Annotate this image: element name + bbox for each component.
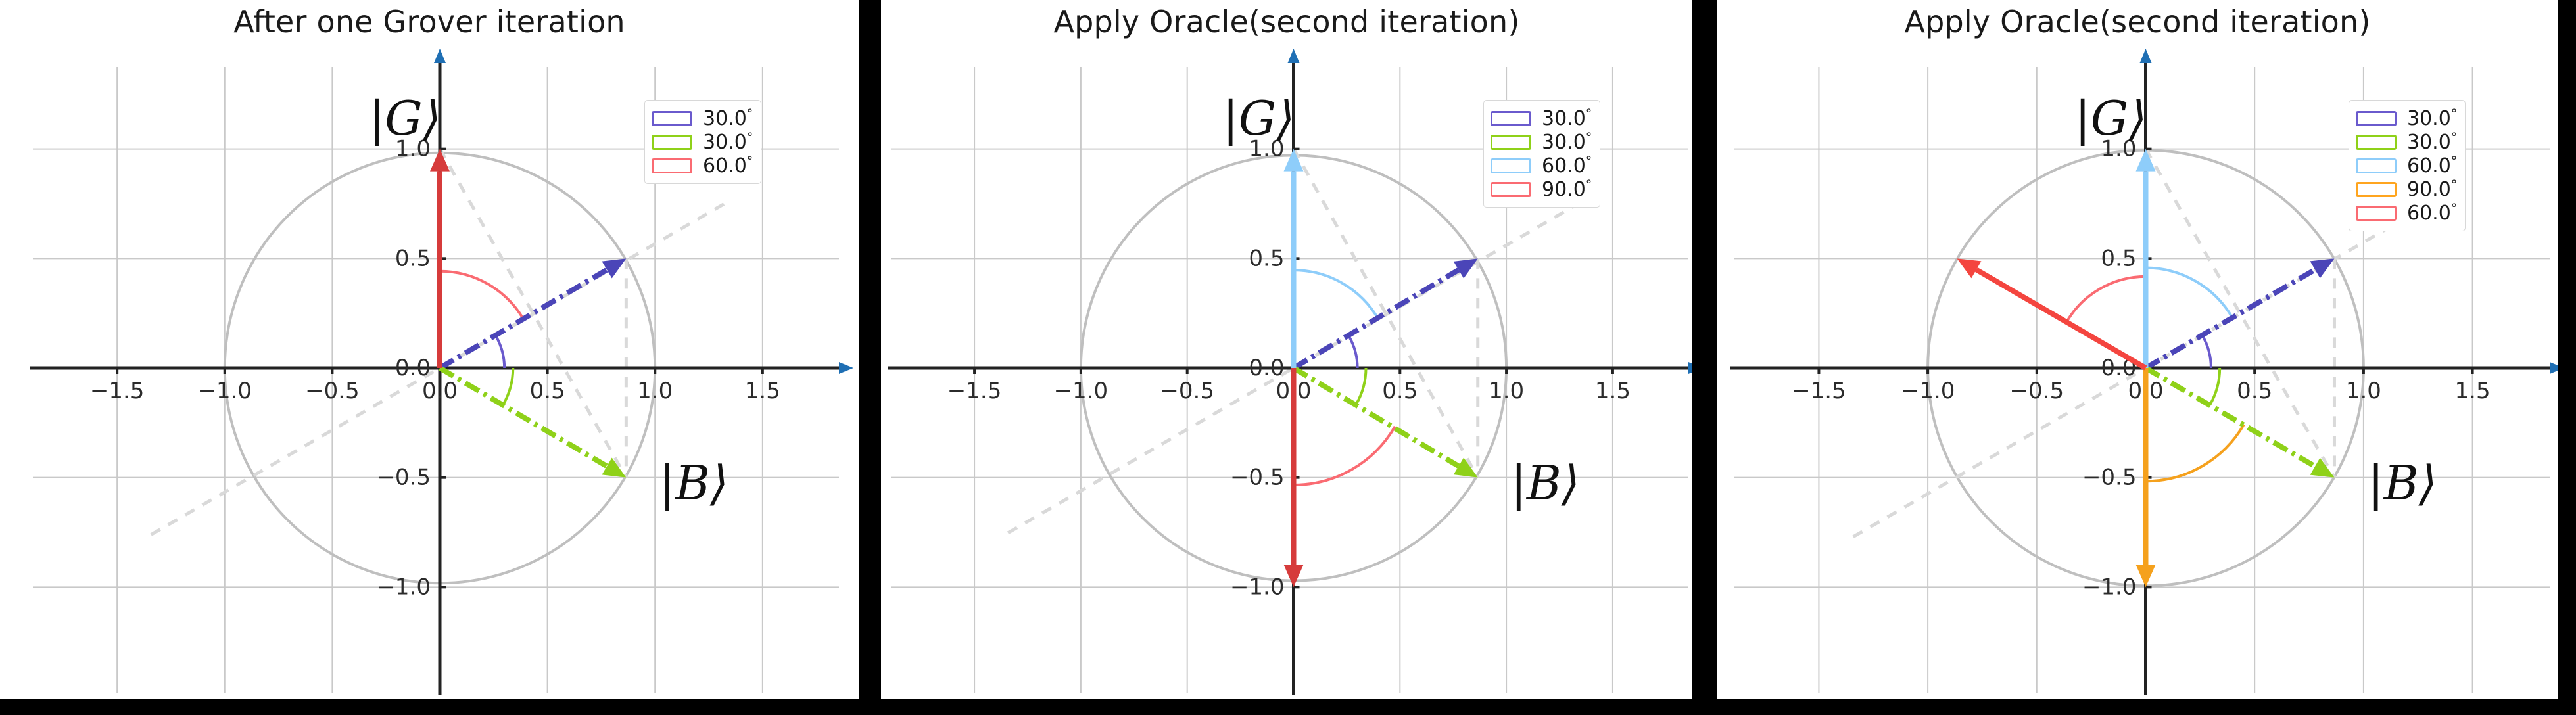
blue-arc-30: [1349, 336, 1358, 368]
legend-row: 30.0°: [1491, 106, 1592, 130]
blue-arc-30: [2203, 335, 2211, 368]
x-tick-label: 1.0: [2346, 378, 2381, 404]
blue-vector-arrowhead: [2310, 258, 2335, 278]
legend-1: 30.0°30.0°60.0°: [644, 100, 761, 184]
legend-swatch-icon: [1491, 135, 1531, 150]
x-tick-label: −1.0: [1054, 378, 1109, 404]
orange-arc-90: [2146, 425, 2244, 481]
legend-swatch-icon: [1491, 158, 1531, 173]
y-tick-label: −0.5: [1230, 465, 1285, 491]
x-tick-label: −0.5: [2010, 378, 2064, 404]
legend-2: 30.0°30.0°60.0°90.0°: [1483, 100, 1600, 208]
x-tick-label: 1.5: [2455, 378, 2491, 404]
x-axis-ket-label: |B⟩: [2368, 455, 2437, 511]
legend-3: 30.0°30.0°60.0°90.0°60.0°: [2349, 100, 2466, 231]
y-axis-ket-label: |G⟩: [369, 91, 441, 146]
green-vector-arrowhead: [602, 458, 626, 478]
x-tick-label: 0.0: [422, 378, 458, 404]
degree-symbol: °: [1586, 106, 1592, 121]
legend-row: 60.0°: [652, 154, 753, 177]
legend-label: 90.0°: [1542, 177, 1592, 201]
x-tick-label: 1.5: [1595, 378, 1631, 404]
legend-swatch-icon: [2356, 111, 2397, 126]
legend-label: 30.0°: [703, 130, 753, 154]
x-tick-label: 1.5: [745, 378, 780, 404]
red-arc-60: [440, 271, 524, 320]
blue-vector: [2146, 269, 2316, 368]
degree-symbol: °: [1586, 130, 1592, 145]
legend-row: 30.0°: [1491, 130, 1592, 154]
degree-symbol: °: [2451, 106, 2458, 121]
legend-row: 30.0°: [2356, 106, 2457, 130]
green-vector: [2146, 368, 2316, 467]
legend-swatch-icon: [2356, 158, 2397, 173]
legend-swatch-icon: [2356, 135, 2397, 150]
legend-swatch-icon: [652, 111, 692, 126]
y-tick-label: 0.5: [395, 245, 431, 271]
red-vector-arrowhead: [1284, 565, 1304, 587]
x-tick-label: −1.0: [197, 378, 252, 404]
y-tick-label: 0.5: [1249, 245, 1284, 271]
panel-2: Apply Oracle(second iteration) −1.5−1.0−…: [881, 0, 1692, 699]
y-tick-label: −0.5: [2082, 465, 2137, 491]
legend-label: 60.0°: [1542, 154, 1592, 177]
legend-swatch-icon: [652, 158, 692, 173]
blue-vector-arrowhead: [602, 258, 626, 278]
y-tick-label: −1.0: [1230, 574, 1285, 600]
green-arc-30: [1356, 368, 1366, 404]
legend-swatch-icon: [2356, 182, 2397, 197]
degree-symbol: °: [747, 154, 753, 168]
x-tick-label: 0.5: [2237, 378, 2272, 404]
y-tick-label: −1.0: [376, 574, 431, 600]
legend-label: 30.0°: [2407, 130, 2457, 154]
degree-symbol: °: [747, 106, 753, 121]
y-tick-label: 0.0: [1249, 355, 1284, 381]
lightblue-vector-arrowhead: [2136, 149, 2156, 172]
y-tick-label: 0.5: [2101, 245, 2136, 271]
red-vector: [1976, 269, 2146, 368]
blue-arc-30: [496, 336, 504, 368]
y-tick-label: −1.0: [2082, 574, 2137, 600]
lightblue-vector-arrowhead: [1284, 149, 1304, 172]
legend-label: 30.0°: [703, 106, 753, 130]
guide-vertical-top: [2146, 149, 2335, 478]
y-tick-label: 0.0: [395, 355, 431, 381]
degree-symbol: °: [2451, 177, 2458, 192]
red-arc-90: [1294, 427, 1395, 485]
legend-row: 90.0°: [1491, 177, 1592, 201]
degree-symbol: °: [747, 130, 753, 145]
degree-symbol: °: [1586, 154, 1592, 168]
legend-row: 90.0°: [2356, 177, 2457, 201]
y-axis-ket-label: |G⟩: [1223, 91, 1295, 146]
legend-row: 30.0°: [652, 130, 753, 154]
x-tick-label: 0.5: [1382, 378, 1418, 404]
x-tick-label: 1.0: [1489, 378, 1524, 404]
legend-swatch-icon: [1491, 111, 1531, 126]
legend-row: 30.0°: [2356, 130, 2457, 154]
x-axis-ket-label: |B⟩: [1511, 455, 1580, 511]
legend-label: 60.0°: [703, 154, 753, 177]
red-arc-60: [2066, 277, 2146, 323]
legend-swatch-icon: [2356, 206, 2397, 221]
legend-label: 30.0°: [2407, 106, 2457, 130]
green-vector: [440, 368, 607, 466]
green-arc-30: [503, 368, 513, 405]
orange-vector-arrowhead: [2136, 565, 2156, 587]
x-tick-label: −1.0: [1901, 378, 1955, 404]
legend-row: 60.0°: [1491, 154, 1592, 177]
green-vector-arrowhead: [2310, 458, 2335, 478]
panel-3: Apply Oracle(second iteration) −1.5−1.0−…: [1717, 0, 2558, 699]
panel-1: After one Grover iteration −1.5−1.0−0.50…: [0, 0, 859, 699]
legend-row: 30.0°: [652, 106, 753, 130]
x-tick-label: −1.5: [90, 378, 145, 404]
legend-label: 90.0°: [2407, 177, 2457, 201]
legend-label: 60.0°: [2407, 201, 2457, 225]
legend-label: 30.0°: [1542, 106, 1592, 130]
y-tick-label: −0.5: [376, 465, 431, 491]
y-axis-ket-label: |G⟩: [2075, 91, 2147, 146]
degree-symbol: °: [2451, 130, 2458, 145]
blue-vector: [1294, 270, 1459, 368]
green-arc-30: [2210, 368, 2220, 405]
legend-label: 60.0°: [2407, 154, 2457, 177]
x-tick-label: 0.5: [530, 378, 565, 404]
x-tick-label: −1.5: [947, 378, 1002, 404]
x-tick-label: −0.5: [305, 378, 360, 404]
legend-row: 60.0°: [2356, 154, 2457, 177]
x-tick-label: 1.0: [637, 378, 673, 404]
figure-strip: After one Grover iteration −1.5−1.0−0.50…: [0, 0, 2576, 715]
legend-swatch-icon: [652, 135, 692, 150]
x-tick-label: −0.5: [1160, 378, 1214, 404]
legend-row: 60.0°: [2356, 201, 2457, 225]
x-tick-label: −1.5: [1792, 378, 1846, 404]
degree-symbol: °: [1586, 177, 1592, 192]
legend-label: 30.0°: [1542, 130, 1592, 154]
legend-swatch-icon: [1491, 182, 1531, 197]
degree-symbol: °: [2451, 154, 2458, 168]
degree-symbol: °: [2451, 201, 2458, 216]
x-axis-ket-label: |B⟩: [659, 455, 728, 511]
